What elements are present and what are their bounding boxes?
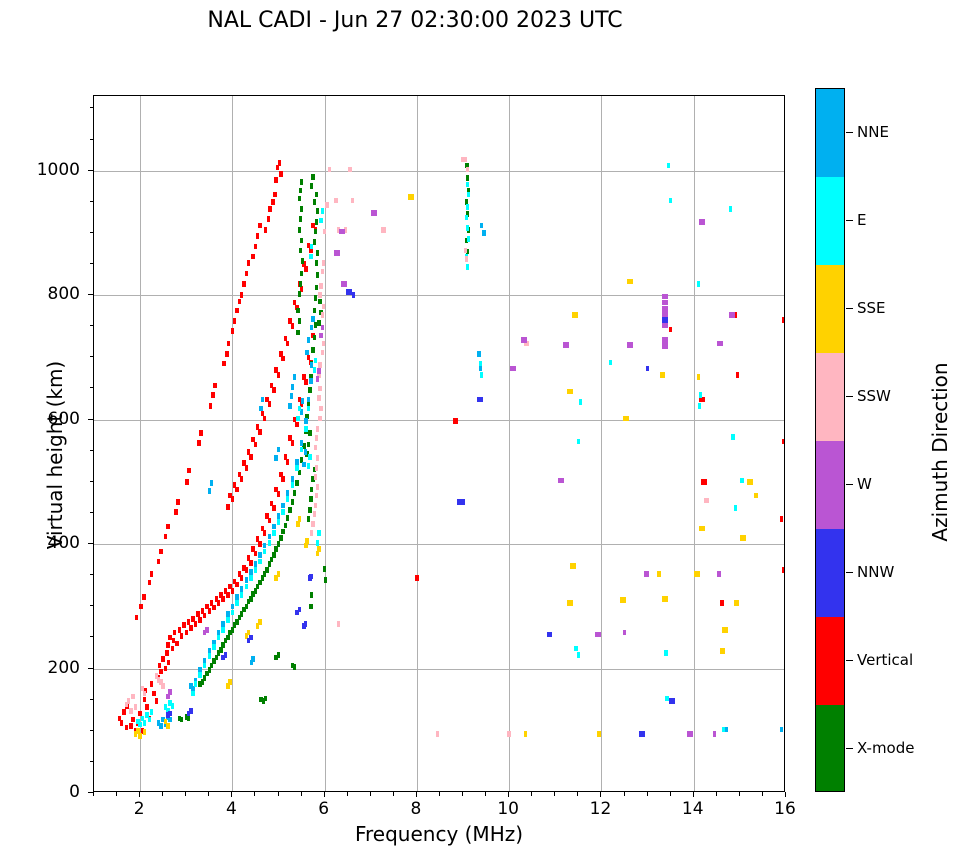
gridline-horizontal (94, 420, 784, 421)
data-point-nnw (224, 652, 227, 658)
data-point-vertical (166, 524, 169, 530)
data-point-nne (208, 488, 211, 494)
data-point-x-mode (323, 566, 326, 572)
data-point-vertical (125, 725, 128, 731)
data-point-e (669, 198, 672, 204)
x-axis-tick (208, 792, 209, 796)
data-point-x-mode (310, 592, 313, 598)
data-point-sse (697, 374, 700, 380)
data-point-e (245, 584, 248, 590)
x-axis-tick (231, 792, 232, 797)
y-axis-tick-label: 800 (0, 284, 80, 304)
data-point-vertical (122, 709, 125, 715)
data-point-e (467, 236, 470, 242)
data-point-nne (240, 586, 243, 592)
data-point-vertical (701, 397, 704, 403)
x-axis-tick (393, 792, 394, 796)
data-point-e (697, 281, 700, 287)
data-point-ssw (706, 498, 709, 504)
x-axis-tick (577, 792, 578, 796)
data-point-vertical (145, 704, 148, 710)
data-point-x-mode (300, 238, 303, 244)
data-point-sse (296, 521, 299, 527)
data-point-x-mode (308, 507, 311, 513)
data-point-x-mode (265, 567, 268, 573)
x-axis-tick-label: 2 (134, 799, 145, 819)
data-point-w (720, 341, 723, 347)
data-point-x-mode (301, 258, 304, 264)
data-point-nne (301, 398, 304, 404)
data-point-x-mode (316, 250, 319, 256)
data-point-x-mode (286, 515, 289, 521)
data-point-ssw (161, 683, 164, 689)
data-point-w (317, 368, 320, 374)
data-point-sse (724, 627, 727, 633)
x-axis-tick (600, 792, 601, 797)
data-point-ssw (465, 256, 468, 262)
data-point-vertical (263, 530, 266, 536)
data-point-e (263, 549, 266, 555)
data-point-vertical (415, 575, 418, 581)
data-point-e (698, 403, 701, 409)
data-point-vertical (258, 223, 261, 229)
y-axis-tick-label: 0 (0, 782, 80, 802)
data-point-x-mode (324, 577, 327, 583)
data-point-nne (159, 723, 162, 729)
data-point-e (466, 182, 469, 188)
data-point-ssw (318, 292, 321, 298)
data-point-ssw (318, 416, 321, 422)
colorbar-segment-vertical (816, 617, 844, 706)
data-point-nne (251, 656, 254, 662)
data-point-e (300, 447, 303, 453)
colorbar-label-w: W (857, 475, 872, 493)
data-point-sse (625, 416, 628, 422)
data-point-sse (411, 194, 414, 200)
data-point-ssw (310, 530, 313, 536)
data-point-nne (277, 513, 280, 519)
data-point-ssw (134, 704, 137, 710)
data-point-nne (254, 561, 257, 567)
data-point-x-mode (299, 216, 302, 222)
data-point-x-mode (187, 716, 190, 722)
data-point-e (272, 530, 275, 536)
data-point-vertical (782, 439, 785, 445)
data-point-vertical (247, 260, 250, 266)
data-point-e (466, 225, 469, 231)
data-point-vertical (286, 341, 289, 347)
data-point-vertical (197, 440, 200, 446)
y-axis-tick (90, 730, 94, 731)
data-point-w (664, 343, 667, 349)
y-axis-tick (90, 139, 94, 140)
data-point-x-mode (277, 652, 280, 658)
data-point-e (466, 204, 469, 210)
data-point-vertical (258, 429, 261, 435)
data-point-vertical (164, 666, 167, 672)
data-point-x-mode (231, 627, 234, 633)
data-point-ssw (314, 445, 317, 451)
page-title: NAL CADI - Jun 27 02:30:00 2023 UTC (0, 8, 830, 33)
y-axis-tick (88, 294, 93, 295)
data-point-sse (657, 571, 660, 577)
data-point-e (203, 663, 206, 669)
data-point-ssw (316, 484, 319, 490)
data-point-nne (263, 543, 266, 549)
data-point-ssw (507, 731, 510, 737)
data-point-e (138, 722, 141, 728)
data-point-vertical (167, 660, 170, 666)
data-point-x-mode (315, 285, 318, 291)
x-axis-tick (254, 792, 255, 796)
data-point-w (168, 689, 171, 695)
data-point-sse (754, 493, 757, 499)
data-point-e (577, 439, 580, 445)
data-point-nne (258, 552, 261, 558)
data-point-x-mode (180, 717, 183, 723)
x-axis-tick (693, 792, 694, 797)
x-axis-tick-label: 10 (497, 799, 519, 819)
data-point-vertical (281, 356, 284, 362)
data-point-w (565, 342, 568, 348)
data-point-vertical (158, 663, 161, 669)
data-point-vertical (135, 615, 138, 621)
data-point-nne (277, 447, 280, 453)
data-point-vertical (187, 619, 190, 625)
colorbar-segment-sse (816, 265, 844, 354)
data-point-nnw (549, 632, 552, 638)
data-point-nne (288, 403, 291, 409)
gridline-vertical (601, 96, 602, 791)
data-point-ssw (318, 386, 321, 392)
data-point-vertical (212, 605, 215, 611)
data-point-x-mode (298, 318, 301, 324)
data-point-w (701, 219, 704, 225)
data-point-ssw (315, 465, 318, 471)
data-point-vertical (173, 630, 176, 636)
data-point-x-mode (298, 227, 301, 233)
data-point-nnw (168, 711, 171, 717)
x-axis-tick-label: 14 (682, 799, 704, 819)
data-point-e (254, 567, 257, 573)
data-point-ssw (322, 341, 325, 347)
data-point-ssw (321, 269, 324, 275)
data-point-nne (304, 449, 307, 455)
data-point-sse (701, 526, 704, 532)
data-point-w (690, 731, 693, 737)
y-axis-tick (90, 636, 94, 637)
data-point-nne (291, 384, 294, 390)
data-point-ssw (314, 474, 317, 480)
data-point-nne (268, 534, 271, 540)
y-axis-tick (90, 201, 94, 202)
data-point-ssw (129, 708, 132, 714)
data-point-x-mode (279, 535, 282, 541)
y-axis-tick (90, 512, 94, 513)
y-axis-tick (88, 543, 93, 544)
data-point-nne (311, 316, 314, 322)
data-point-ssw (323, 229, 326, 235)
data-point-x-mode (307, 442, 310, 448)
data-point-sse (258, 619, 261, 625)
data-point-w (319, 333, 322, 339)
data-point-nnw (664, 317, 667, 323)
data-point-nne (259, 406, 262, 412)
data-point-e (740, 478, 743, 484)
colorbar-tick (846, 484, 853, 485)
data-point-e (148, 717, 151, 723)
data-point-nnw (352, 292, 355, 298)
data-point-ssw (325, 202, 328, 208)
data-point-w (646, 571, 649, 577)
y-axis-tick (90, 605, 94, 606)
y-axis-tick (90, 232, 94, 233)
colorbar-title: Azimuth Direction (928, 302, 952, 602)
plot-area (93, 95, 785, 792)
data-point-sse (597, 731, 600, 737)
data-point-ssw (319, 406, 322, 412)
data-point-sse (743, 535, 746, 541)
gridline-horizontal (94, 295, 784, 296)
data-point-vertical (780, 516, 783, 522)
data-point-nnw (298, 607, 301, 613)
data-point-vertical (180, 633, 183, 639)
gridline-horizontal (94, 544, 784, 545)
data-point-vertical (178, 627, 181, 633)
colorbar-label-sse: SSE (857, 299, 886, 317)
data-point-e (722, 727, 725, 733)
data-point-x-mode (293, 490, 296, 496)
data-point-x-mode (226, 635, 229, 641)
data-point-e (479, 361, 482, 367)
data-point-sse (630, 279, 633, 285)
data-point-e (194, 681, 197, 687)
data-point-w (664, 337, 667, 343)
data-point-nne (272, 524, 275, 530)
colorbar-segment-nnw (816, 529, 844, 618)
data-point-e (191, 691, 194, 697)
data-point-vertical (273, 192, 276, 198)
x-axis-tick (462, 792, 463, 796)
data-point-sse (298, 516, 301, 522)
data-point-ssw (321, 350, 324, 356)
data-point-vertical (251, 254, 254, 260)
data-point-e (309, 254, 312, 260)
data-point-sse (623, 597, 626, 603)
x-axis-tick (554, 792, 555, 796)
colorbar-tick (846, 308, 853, 309)
data-point-nne (309, 378, 312, 384)
data-point-x-mode (277, 541, 280, 547)
data-point-ssw (311, 521, 314, 527)
data-point-nne (477, 351, 480, 357)
data-point-sse (166, 723, 169, 729)
y-axis-title: Virtual height (km) (43, 305, 67, 605)
data-point-vertical (245, 271, 248, 277)
data-point-vertical (143, 697, 146, 703)
data-point-w (337, 250, 340, 256)
data-point-ssw (348, 167, 351, 173)
data-point-e (574, 646, 577, 652)
x-axis-tick (624, 792, 625, 796)
colorbar-tick (846, 748, 853, 749)
data-point-ssw (313, 511, 316, 517)
data-point-x-mode (310, 183, 313, 189)
y-axis-tick (90, 450, 94, 451)
x-axis-tick (716, 792, 717, 796)
colorbar-tick (846, 396, 853, 397)
x-axis-tick-label: 4 (226, 799, 237, 819)
y-axis-tick (90, 325, 94, 326)
data-point-sse (317, 546, 320, 552)
data-point-e (304, 426, 307, 432)
colorbar-label-e: E (857, 211, 866, 229)
data-point-vertical (254, 442, 257, 448)
y-axis-tick-label: 200 (0, 658, 80, 678)
data-point-vertical (157, 559, 160, 565)
data-point-w (205, 627, 208, 633)
data-point-vertical (231, 496, 234, 502)
data-point-vertical (281, 476, 284, 482)
data-point-e (226, 617, 229, 623)
data-point-e (307, 406, 310, 412)
x-axis-tick (416, 792, 417, 797)
data-point-e (465, 215, 468, 221)
data-point-e (212, 644, 215, 650)
data-point-vertical (198, 617, 201, 623)
data-point-vertical (208, 608, 211, 614)
data-point-ssw (328, 167, 331, 173)
data-point-nnw (304, 621, 307, 627)
data-point-nne (304, 418, 307, 424)
data-point-x-mode (245, 604, 248, 610)
data-point-vertical (152, 691, 155, 697)
data-point-ssw (334, 198, 337, 204)
colorbar-segment-w (816, 441, 844, 530)
x-axis-title: Frequency (MHz) (93, 822, 785, 846)
data-point-e (150, 709, 153, 715)
data-point-ssw (315, 493, 318, 499)
data-point-nne (310, 325, 313, 331)
data-point-e (298, 406, 301, 412)
data-point-nnw (480, 397, 483, 403)
data-point-e (291, 482, 294, 488)
data-point-e (281, 509, 284, 515)
data-point-sse (228, 679, 231, 685)
data-point-ssw (436, 731, 439, 737)
data-point-vertical (286, 459, 289, 465)
data-point-e (316, 540, 319, 546)
data-point-e (313, 367, 316, 373)
data-point-e (667, 163, 670, 169)
data-point-sse (736, 600, 739, 606)
data-point-ssw (321, 312, 324, 318)
data-point-vertical (222, 361, 225, 367)
data-point-ssw (157, 677, 160, 683)
data-point-x-mode (299, 188, 302, 194)
data-point-vertical (235, 308, 238, 314)
data-point-vertical (736, 372, 739, 378)
y-axis-tick (90, 356, 94, 357)
data-point-vertical (268, 206, 271, 212)
data-point-vertical (185, 479, 188, 485)
data-point-vertical (131, 717, 134, 723)
data-point-sse (572, 563, 575, 569)
data-point-vertical (274, 177, 277, 183)
colorbar-tick (846, 572, 853, 573)
x-axis-tick (647, 792, 648, 796)
data-point-nne (245, 577, 248, 583)
data-point-vertical (268, 401, 271, 407)
data-point-vertical (304, 266, 307, 272)
data-point-x-mode (274, 546, 277, 552)
data-point-ssw (316, 455, 319, 461)
data-point-vertical (291, 323, 294, 329)
data-point-w (374, 210, 377, 216)
data-point-x-mode (219, 647, 222, 653)
data-point-vertical (217, 600, 220, 606)
data-point-x-mode (299, 248, 302, 254)
data-point-vertical (268, 518, 271, 524)
data-point-x-mode (299, 281, 302, 287)
data-point-e (466, 264, 469, 270)
data-point-e (258, 559, 261, 565)
data-point-ssw (464, 157, 467, 163)
x-axis-tick (485, 792, 486, 796)
data-point-vertical (272, 505, 275, 511)
data-point-nne (307, 397, 310, 403)
data-point-x-mode (281, 529, 284, 535)
data-point-x-mode (300, 206, 303, 212)
x-axis-tick (185, 792, 186, 796)
data-point-x-mode (307, 516, 310, 522)
data-point-vertical (211, 392, 214, 398)
data-point-sse (574, 312, 577, 318)
data-point-vertical (240, 292, 243, 298)
gridline-horizontal (94, 171, 784, 172)
data-point-nne (302, 462, 305, 468)
data-point-vertical (189, 625, 192, 631)
data-point-ssw (322, 304, 325, 310)
x-axis-tick (93, 792, 94, 796)
colorbar-label-nnw: NNW (857, 563, 894, 581)
data-point-e (198, 672, 201, 678)
data-point-w (664, 306, 667, 312)
data-point-nne (291, 476, 294, 482)
data-point-vertical (245, 567, 248, 573)
data-point-vertical (249, 454, 252, 460)
data-point-x-mode (309, 496, 312, 502)
data-point-x-mode (300, 271, 303, 277)
data-point-x-mode (315, 260, 318, 266)
data-point-nnw (189, 708, 192, 714)
data-point-sse (570, 600, 573, 606)
data-point-vertical (271, 199, 274, 205)
data-point-e (268, 540, 271, 546)
data-point-vertical (256, 233, 259, 239)
data-point-vertical (279, 171, 282, 177)
data-point-ssw (318, 362, 321, 368)
colorbar-segment-nne (816, 89, 844, 178)
data-point-e (734, 505, 737, 511)
data-point-vertical (258, 541, 261, 547)
data-point-ssw (127, 698, 130, 704)
data-point-e (286, 496, 289, 502)
data-point-nnw (641, 731, 644, 737)
y-axis-tick (90, 574, 94, 575)
data-point-x-mode (310, 487, 313, 493)
data-point-nne (479, 366, 482, 372)
